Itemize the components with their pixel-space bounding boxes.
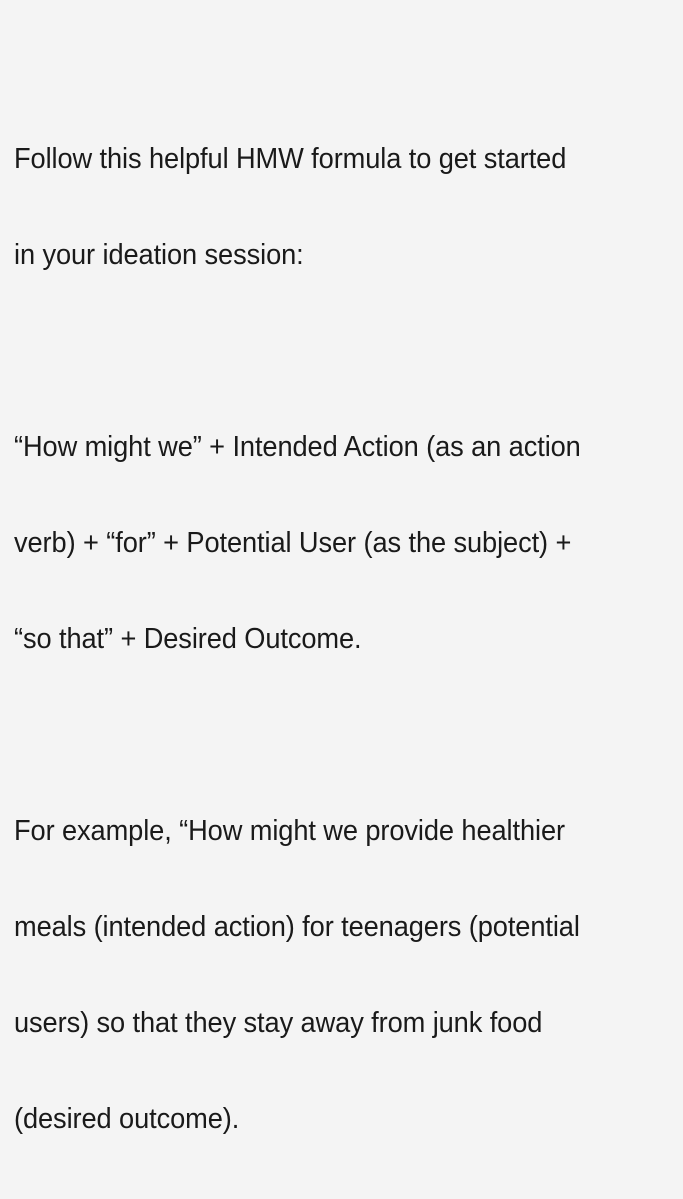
paragraph-example: For example, “How might we provide healt… — [14, 751, 616, 1199]
paragraph-formula: “How might we” + Intended Action (as an … — [14, 367, 616, 719]
paragraph-formula-line-3: “so that” + Desired Outcome. — [14, 623, 616, 655]
paragraph-intro-line-2: in your ideation session: — [14, 239, 616, 271]
paragraph-example-line-3: users) so that they stay away from junk … — [14, 1007, 616, 1039]
paragraph-example-line-2: meals (intended action) for teenagers (p… — [14, 911, 616, 943]
body-text-block: Follow this helpful HMW formula to get s… — [14, 79, 644, 1199]
paragraph-example-line-1: For example, “How might we provide healt… — [14, 815, 616, 847]
paragraph-example-line-4: (desired outcome). — [14, 1103, 616, 1135]
slide-canvas: Follow this helpful HMW formula to get s… — [0, 0, 683, 683]
paragraph-formula-line-1: “How might we” + Intended Action (as an … — [14, 431, 616, 463]
paragraph-formula-line-2: verb) + “for” + Potential User (as the s… — [14, 527, 616, 559]
paragraph-intro: Follow this helpful HMW formula to get s… — [14, 79, 616, 335]
paragraph-intro-line-1: Follow this helpful HMW formula to get s… — [14, 143, 616, 175]
